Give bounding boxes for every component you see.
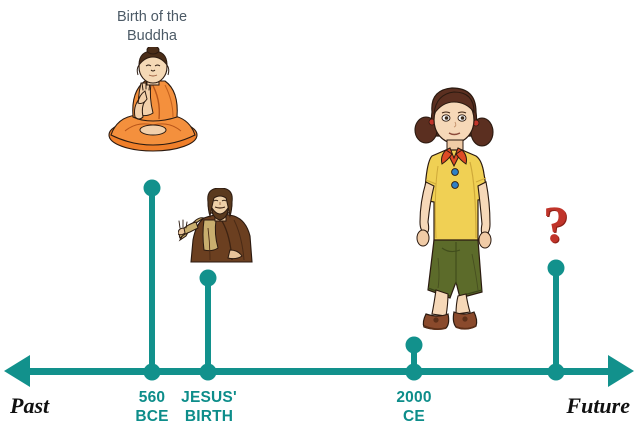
event-stem-top-dot-jesus [200,270,217,287]
event-stem-top-dot-present [406,337,423,354]
axis-label-jesus-line1: JESUS' [181,388,237,407]
axis-label-buddha: 560 BCE [135,388,168,426]
axis-label-buddha-line2: BCE [135,407,168,426]
jesus-svg [178,188,266,266]
past-label: Past [10,393,49,419]
buddha-caption-line2: Buddha [77,27,227,46]
axis-label-present-line2: CE [396,407,431,426]
jesus-illustration [178,188,266,266]
timeline-illustration: Birth of the Buddha [0,0,638,440]
future-arrow-icon [608,355,634,387]
girl-svg [398,82,504,332]
buddha-caption: Birth of the Buddha [77,8,227,46]
event-stem-buddha [149,188,155,372]
future-label: Future [566,393,630,419]
seated-buddha-illustration [103,47,203,152]
timeline-axis [22,368,616,375]
axis-label-jesus-line2: BIRTH [181,407,237,426]
event-stem-future [553,268,559,372]
girl-illustration [398,82,504,332]
axis-label-present-line1: 2000 [396,388,431,407]
axis-label-jesus: JESUS' BIRTH [181,388,237,426]
past-arrow-icon [4,355,30,387]
event-stem-jesus [205,278,211,372]
seated-buddha-svg [103,47,203,152]
buddha-caption-line1: Birth of the [77,8,227,27]
axis-label-present: 2000 CE [396,388,431,426]
event-stem-top-dot-future [548,260,565,277]
question-mark-symbol: ? [543,200,569,252]
event-stem-top-dot-buddha [144,180,161,197]
axis-label-buddha-line1: 560 [135,388,168,407]
